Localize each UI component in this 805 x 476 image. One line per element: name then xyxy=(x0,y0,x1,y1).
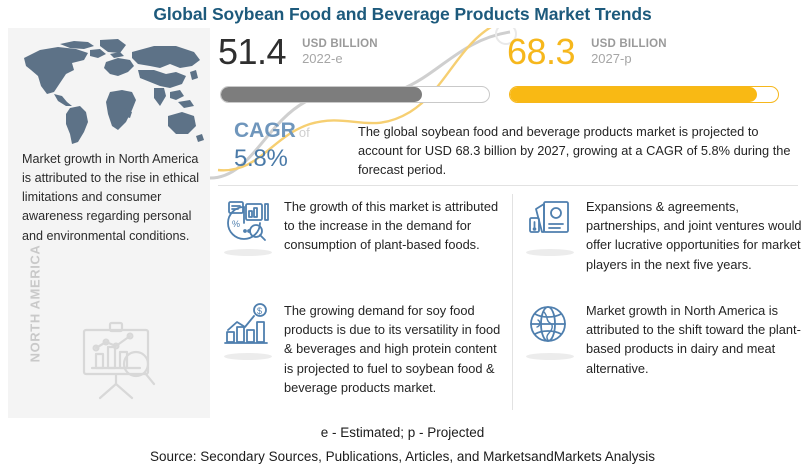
stat-head: 68.3 USD BILLION 2027-p xyxy=(507,32,667,72)
stat-value: 51.4 xyxy=(218,32,286,72)
stat-unit: USD BILLION xyxy=(302,38,378,51)
cagr-block: CAGRof 5.8% xyxy=(234,118,364,173)
stat-value: 68.3 xyxy=(507,32,575,72)
insight-text: The growth of this market is attributed … xyxy=(284,196,505,255)
cagr-label: CAGR xyxy=(234,119,296,142)
icon-shadow xyxy=(526,353,574,360)
market-description-text: The global soybean food and beverage pro… xyxy=(358,122,798,180)
stat-head: 51.4 USD BILLION 2022-e xyxy=(218,32,378,72)
stats-row: 51.4 USD BILLION 2022-e 68.3 US xyxy=(210,28,805,113)
infographic-root: Global Soybean Food and Beverage Product… xyxy=(0,0,805,476)
stat-card-base-year: 51.4 USD BILLION 2022-e xyxy=(218,28,508,113)
cagr-value: 5.8% xyxy=(234,145,364,173)
stat-year: 2022-e xyxy=(302,51,378,66)
footer-legend-note: e - Estimated; p - Projected xyxy=(0,420,805,445)
insight-item-growth-driver: % The growth of th xyxy=(220,196,505,255)
region-vertical-label: NORTH AMERICA xyxy=(28,244,43,364)
insight-item-expansions: Expansions & agreements, partnerships, a… xyxy=(522,196,802,274)
icon-shadow xyxy=(224,249,272,256)
sidebar-note-text: Market growth in North America is attrib… xyxy=(22,150,208,246)
stat-meta: USD BILLION 2022-e xyxy=(302,32,378,66)
globe-icon xyxy=(522,300,580,356)
cagr-label-line: CAGRof xyxy=(234,118,364,145)
title-bar: Global Soybean Food and Beverage Product… xyxy=(0,0,805,28)
sidebar-panel: Market growth in North America is attrib… xyxy=(8,28,210,418)
content-panel: 51.4 USD BILLION 2022-e 68.3 US xyxy=(210,28,805,418)
footer: e - Estimated; p - Projected Source: Sec… xyxy=(0,420,805,476)
world-map-icon xyxy=(14,36,206,148)
page-title: Global Soybean Food and Beverage Product… xyxy=(153,4,651,25)
stat-year: 2027-p xyxy=(591,51,667,66)
svg-text:$: $ xyxy=(257,306,262,316)
icon-shadow xyxy=(224,353,272,360)
stat-meta: USD BILLION 2027-p xyxy=(591,32,667,66)
insight-text: Expansions & agreements, partnerships, a… xyxy=(586,196,802,274)
chart-analysis-easel-icon xyxy=(70,318,166,404)
icon-shadow xyxy=(526,249,574,256)
insight-text: The growing demand for soy food products… xyxy=(284,300,505,397)
stat-progress-track xyxy=(220,86,490,103)
hand-holding-money-icon xyxy=(522,196,580,252)
vertical-divider xyxy=(512,194,513,410)
cagr-description-row: CAGRof 5.8% The global soybean food and … xyxy=(210,118,805,183)
stat-progress-fill xyxy=(510,87,757,102)
stat-progress-fill xyxy=(221,87,422,102)
stat-card-forecast-year: 68.3 USD BILLION 2027-p xyxy=(507,28,797,113)
pie-bar-chart-magnifier-icon: % xyxy=(220,196,278,252)
footer-source-note: Source: Secondary Sources, Publications,… xyxy=(0,445,805,469)
insight-item-soy-demand: $ The growing demand for soy food produc… xyxy=(220,300,505,397)
insight-item-north-america: Market growth in North America is attrib… xyxy=(522,300,802,378)
svg-text:%: % xyxy=(232,219,240,229)
stat-unit: USD BILLION xyxy=(591,38,667,51)
cagr-of-label: of xyxy=(299,125,310,140)
insight-text: Market growth in North America is attrib… xyxy=(586,300,802,378)
growth-bar-chart-dollar-icon: $ xyxy=(220,300,278,356)
body-area: Market growth in North America is attrib… xyxy=(0,28,805,418)
stat-progress-track xyxy=(509,86,779,103)
horizontal-divider xyxy=(218,185,798,186)
